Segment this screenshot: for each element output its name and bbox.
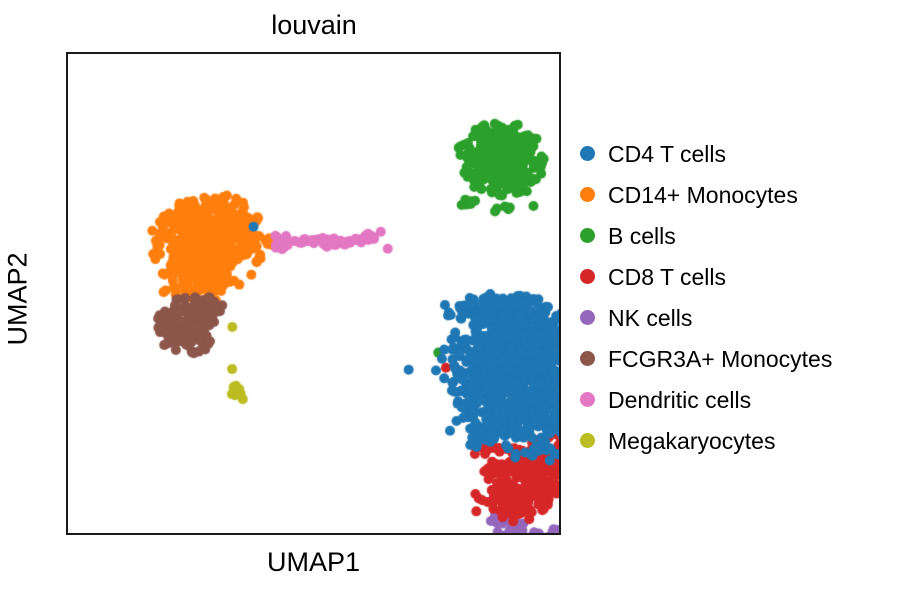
legend-color-swatch-icon [580,187,595,202]
legend-item-label: Dendritic cells [608,387,751,413]
legend: CD4 T cellsCD14+ MonocytesB cellsCD8 T c… [580,133,910,461]
page-title: louvain [66,8,562,42]
legend-item-label: FCGR3A+ Monocytes [608,346,832,372]
legend-color-swatch-icon [580,228,595,243]
legend-item-label: Megakaryocytes [608,428,775,454]
x-axis-label: UMAP1 [66,545,561,579]
y-axis-label: UMAP2 [3,58,33,541]
legend-item[interactable]: B cells [580,215,910,256]
scatter-points-canvas[interactable] [68,54,559,533]
legend-color-swatch-icon [580,146,595,161]
legend-color-swatch-icon [580,310,595,325]
scatter-plot-area[interactable] [66,52,561,535]
legend-item-label: CD14+ Monocytes [608,182,798,208]
legend-item[interactable]: Dendritic cells [580,379,910,420]
legend-item-label: B cells [608,223,676,249]
legend-color-swatch-icon [580,433,595,448]
legend-item-label: CD8 T cells [608,264,726,290]
legend-color-swatch-icon [580,269,595,284]
legend-item[interactable]: Megakaryocytes [580,420,910,461]
legend-item-label: NK cells [608,305,692,331]
legend-item-label: CD4 T cells [608,141,726,167]
umap-figure: louvain UMAP1 UMAP2 CD4 T cellsCD14+ Mon… [0,0,918,600]
legend-color-swatch-icon [580,351,595,366]
legend-item[interactable]: FCGR3A+ Monocytes [580,338,910,379]
legend-item[interactable]: CD14+ Monocytes [580,174,910,215]
legend-item[interactable]: CD8 T cells [580,256,910,297]
legend-item[interactable]: NK cells [580,297,910,338]
legend-item[interactable]: CD4 T cells [580,133,910,174]
legend-color-swatch-icon [580,392,595,407]
